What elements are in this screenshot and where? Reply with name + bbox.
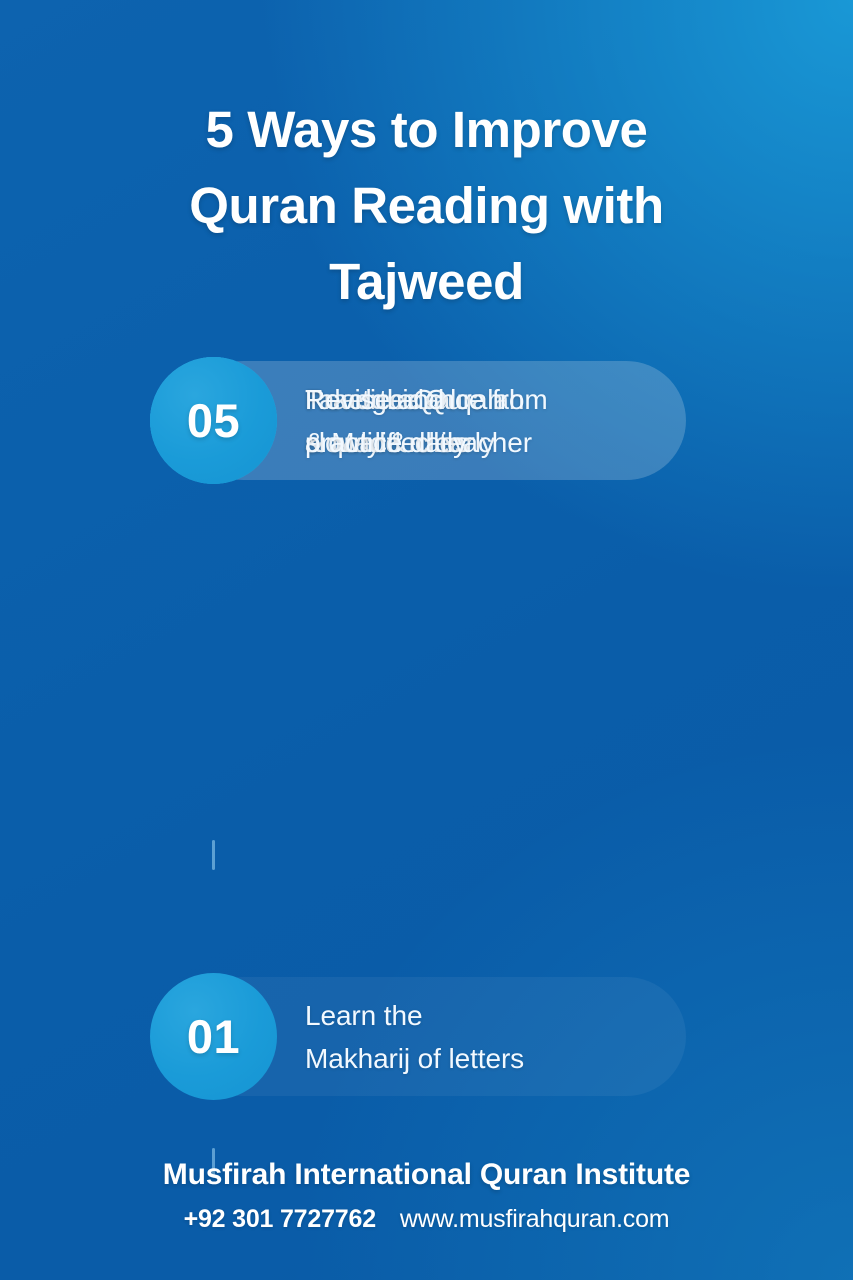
step-text: Learn the Makharij of letters — [305, 994, 685, 1080]
phone-number[interactable]: +92 301 7727762 — [184, 1205, 376, 1234]
step-connector-1-2 — [212, 840, 215, 870]
footer: Musfirah International Quran Institute +… — [0, 1153, 853, 1234]
page-title: 5 Ways to Improve Quran Reading with Taj… — [0, 92, 853, 320]
step-text-line-1: Learn the — [305, 994, 685, 1037]
step-number-badge: 05 — [150, 357, 277, 484]
list-item: 05 Revise and practice daily — [150, 357, 686, 484]
step-number-label: 05 — [187, 397, 240, 444]
title-line-3: Tajweed — [60, 244, 793, 320]
step-text-line-1: Revise and — [305, 378, 685, 421]
step-number-badge: 01 — [150, 973, 277, 1100]
step-number-label: 01 — [187, 1013, 240, 1060]
infographic-poster: 5 Ways to Improve Quran Reading with Taj… — [0, 0, 853, 1280]
website-url[interactable]: www.musfirahquran.com — [400, 1205, 670, 1234]
step-text-line-2: practice daily — [305, 421, 685, 464]
steps-list: 01 Learn the Makharij of letters 02 Prac… — [0, 357, 853, 1097]
organization-name: Musfirah International Quran Institute — [40, 1153, 813, 1197]
title-line-2: Quran Reading with — [60, 168, 793, 244]
list-item: 01 Learn the Makharij of letters — [150, 973, 686, 1100]
step-text: Revise and practice daily — [305, 378, 685, 464]
title-line-1: 5 Ways to Improve — [60, 92, 793, 168]
contact-row: +92 301 7727762 www.musfirahquran.com — [40, 1205, 813, 1234]
step-text-line-2: Makharij of letters — [305, 1037, 685, 1080]
